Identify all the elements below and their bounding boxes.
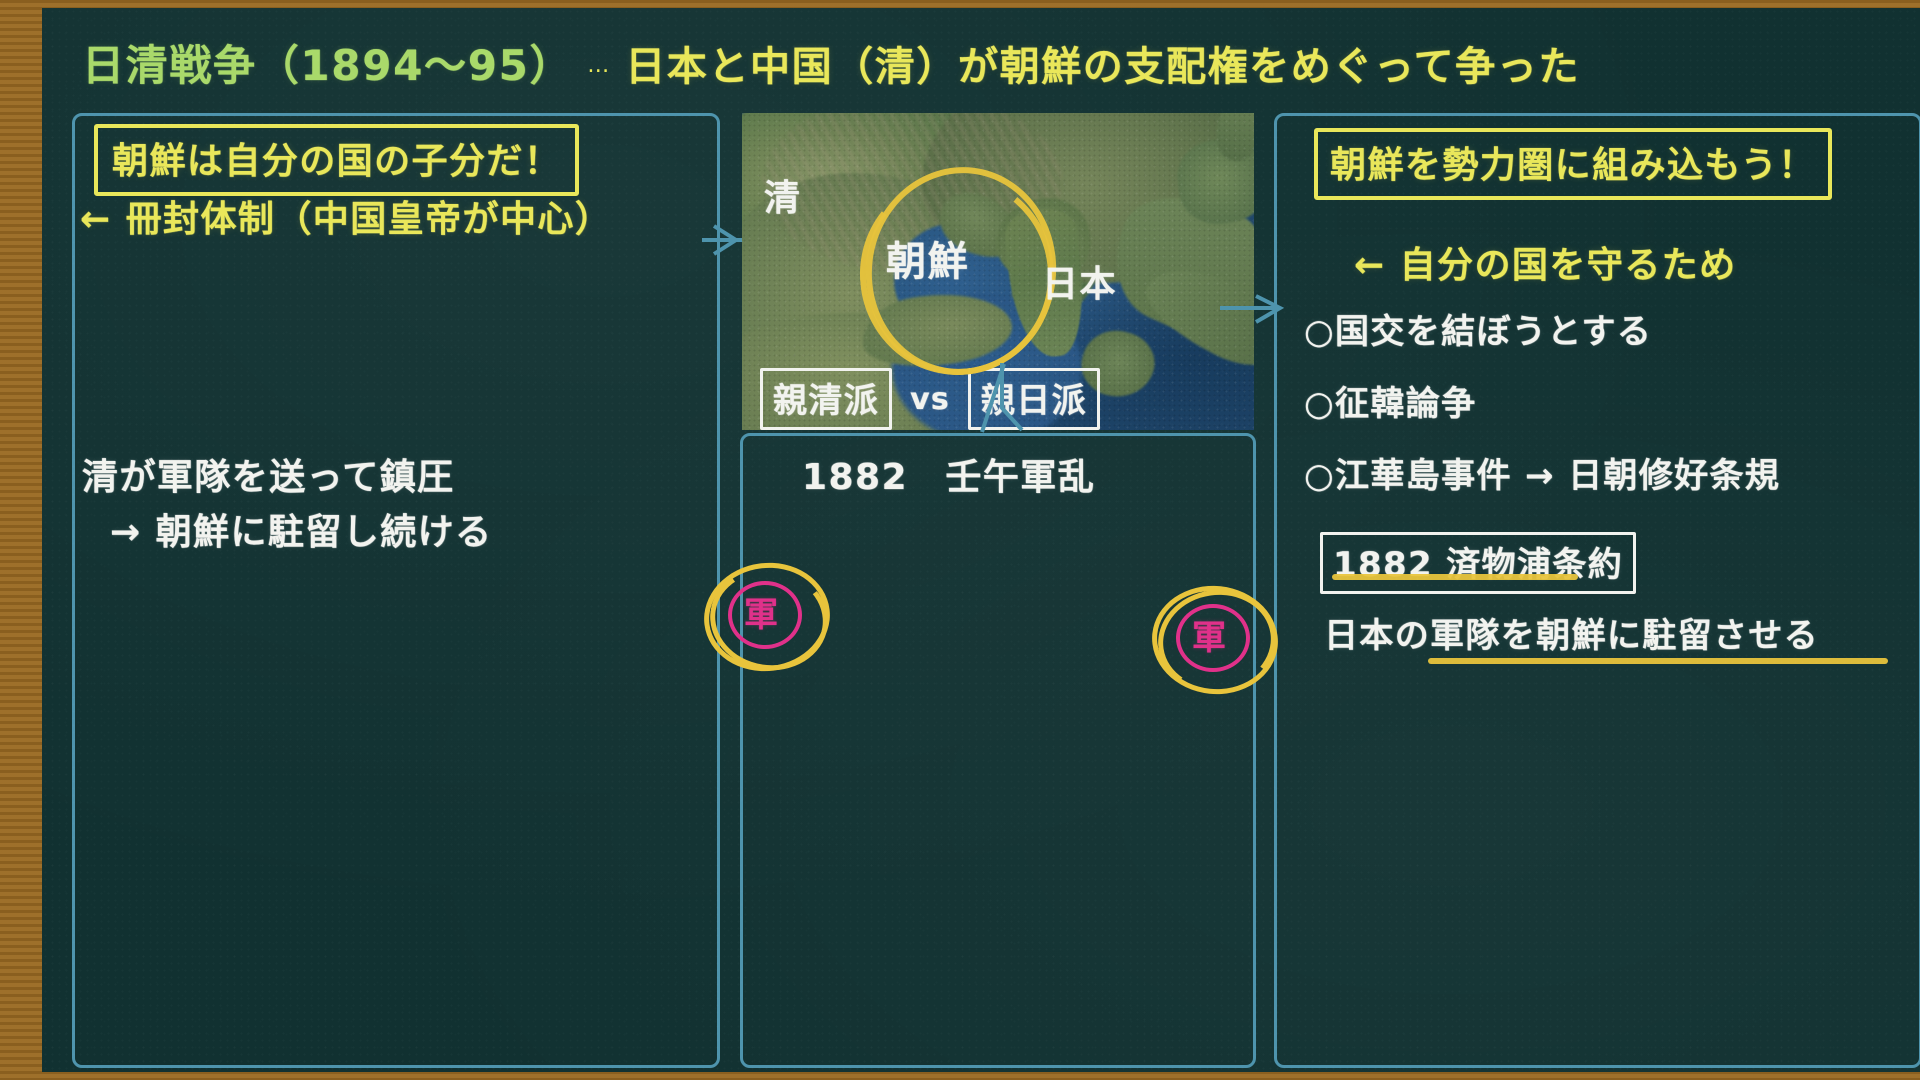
map-label-qing: 清 xyxy=(764,169,801,221)
faction-pro-japan: 親日派 xyxy=(968,368,1100,430)
chalkboard: 日清戦争（1894〜95） … 日本と中国（清）が朝鮮の支配権をめぐって争った xyxy=(42,8,1920,1072)
treaty-note: 日本の軍隊を朝鮮に駐留させる xyxy=(1324,608,1819,657)
title-main: 日清戦争（1894〜95） xyxy=(82,32,573,93)
panel-qing-position xyxy=(72,113,720,1068)
qing-reason: ← 冊封体制（中国皇帝が中心） xyxy=(80,190,612,242)
japan-bullet-1: ○国交を結ぼうとする xyxy=(1304,304,1652,353)
treaty-box-underline xyxy=(1332,574,1578,580)
qing-claim-text: 朝鮮は自分の国の子分だ！ xyxy=(112,141,561,182)
page-title: 日清戦争（1894〜95） … 日本と中国（清）が朝鮮の支配権をめぐって争った xyxy=(82,32,1580,93)
imo-incident-label: 1882 壬午軍乱 xyxy=(802,448,1095,500)
versus-label: vs xyxy=(910,382,950,417)
japan-bullet-2: ○征韓論争 xyxy=(1304,376,1476,425)
japan-bullet-3: ○江華島事件 → 日朝修好条規 xyxy=(1304,448,1780,497)
panel-korea-factions xyxy=(740,433,1256,1068)
map-label-japan: 日本 xyxy=(1042,255,1117,307)
army-marker-qing-kanji: 軍 xyxy=(744,587,778,636)
map-label-korea: 朝鮮 xyxy=(886,229,969,287)
japan-reason: ← 自分の国を守るため xyxy=(1354,236,1737,288)
army-marker-japan-kanji: 軍 xyxy=(1192,610,1226,659)
qing-note-line-1: 清が軍隊を送って鎮圧 xyxy=(82,448,455,500)
japan-claim-text: 朝鮮を勢力圏に組み込もう！ xyxy=(1330,145,1816,186)
faction-versus-row: 親清派 vs 親日派 xyxy=(760,368,1100,430)
slide-root: 日清戦争（1894〜95） … 日本と中国（清）が朝鮮の支配権をめぐって争った xyxy=(0,0,1920,1080)
qing-note-line-2: → 朝鮮に駐留し続ける xyxy=(110,503,493,555)
treaty-note-underline xyxy=(1428,658,1888,664)
title-subtitle: 日本と中国（清）が朝鮮の支配権をめぐって争った xyxy=(625,34,1580,92)
qing-claim-box: 朝鮮は自分の国の子分だ！ xyxy=(94,124,579,196)
faction-pro-qing: 親清派 xyxy=(760,368,892,430)
japan-claim-box: 朝鮮を勢力圏に組み込もう！ xyxy=(1314,128,1832,200)
army-marker-japan-group: 軍 xyxy=(1152,586,1272,686)
army-marker-qing-group: 軍 xyxy=(704,563,824,663)
title-separator: … xyxy=(587,53,611,78)
treaty-box: 1882 済物浦条約 xyxy=(1320,532,1636,594)
